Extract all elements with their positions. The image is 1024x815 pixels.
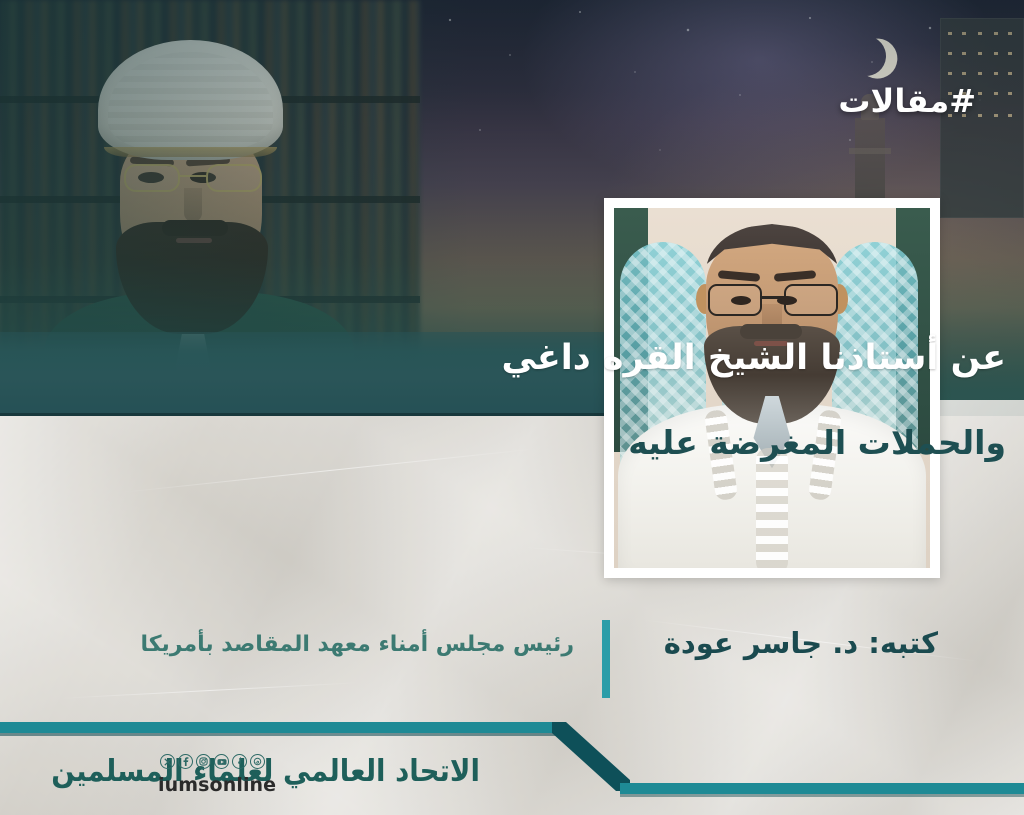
article-title-line-1: عن أستاذنا الشيخ القره داغي: [426, 338, 1006, 379]
article-poster: #مقالات عن أستاذنا الشيخ القره داغي والح…: [0, 0, 1024, 815]
author-role: رئيس مجلس أمناء معهد المقاصد بأمريكا: [94, 632, 574, 657]
youtube-icon[interactable]: [214, 754, 229, 769]
accent-line-upper: [0, 722, 556, 733]
x-twitter-icon[interactable]: [160, 754, 175, 769]
threads-icon[interactable]: [250, 754, 265, 769]
accent-line-lower: [620, 783, 1024, 794]
author-name: كتبه: د. جاسر عودة: [664, 626, 938, 660]
hashtag-label[interactable]: #مقالات: [838, 82, 976, 120]
eye: [731, 296, 751, 305]
footer-brand: الاتحاد العالمي لعلماء المسلمين iumsonli…: [150, 752, 480, 810]
author-credit-row: كتبه: د. جاسر عودة رئيس مجلس أمناء معهد …: [0, 612, 1024, 704]
thobe-placket: [756, 448, 788, 568]
article-title-line-2: والحملات المغرضة عليه: [426, 424, 1006, 463]
eye: [777, 296, 797, 305]
facebook-icon[interactable]: [178, 754, 193, 769]
vertical-divider: [602, 620, 610, 698]
instagram-icon[interactable]: [196, 754, 211, 769]
iums-brand-handle[interactable]: iumsonline: [158, 774, 276, 796]
author-portrait-image: [614, 208, 930, 568]
author-portrait-frame: [604, 198, 940, 578]
accent-line-diagonal: [552, 718, 644, 792]
tiktok-icon[interactable]: [232, 754, 247, 769]
eyeglasses-icon: [708, 284, 838, 318]
mustache: [740, 324, 802, 339]
social-links: [160, 754, 265, 769]
